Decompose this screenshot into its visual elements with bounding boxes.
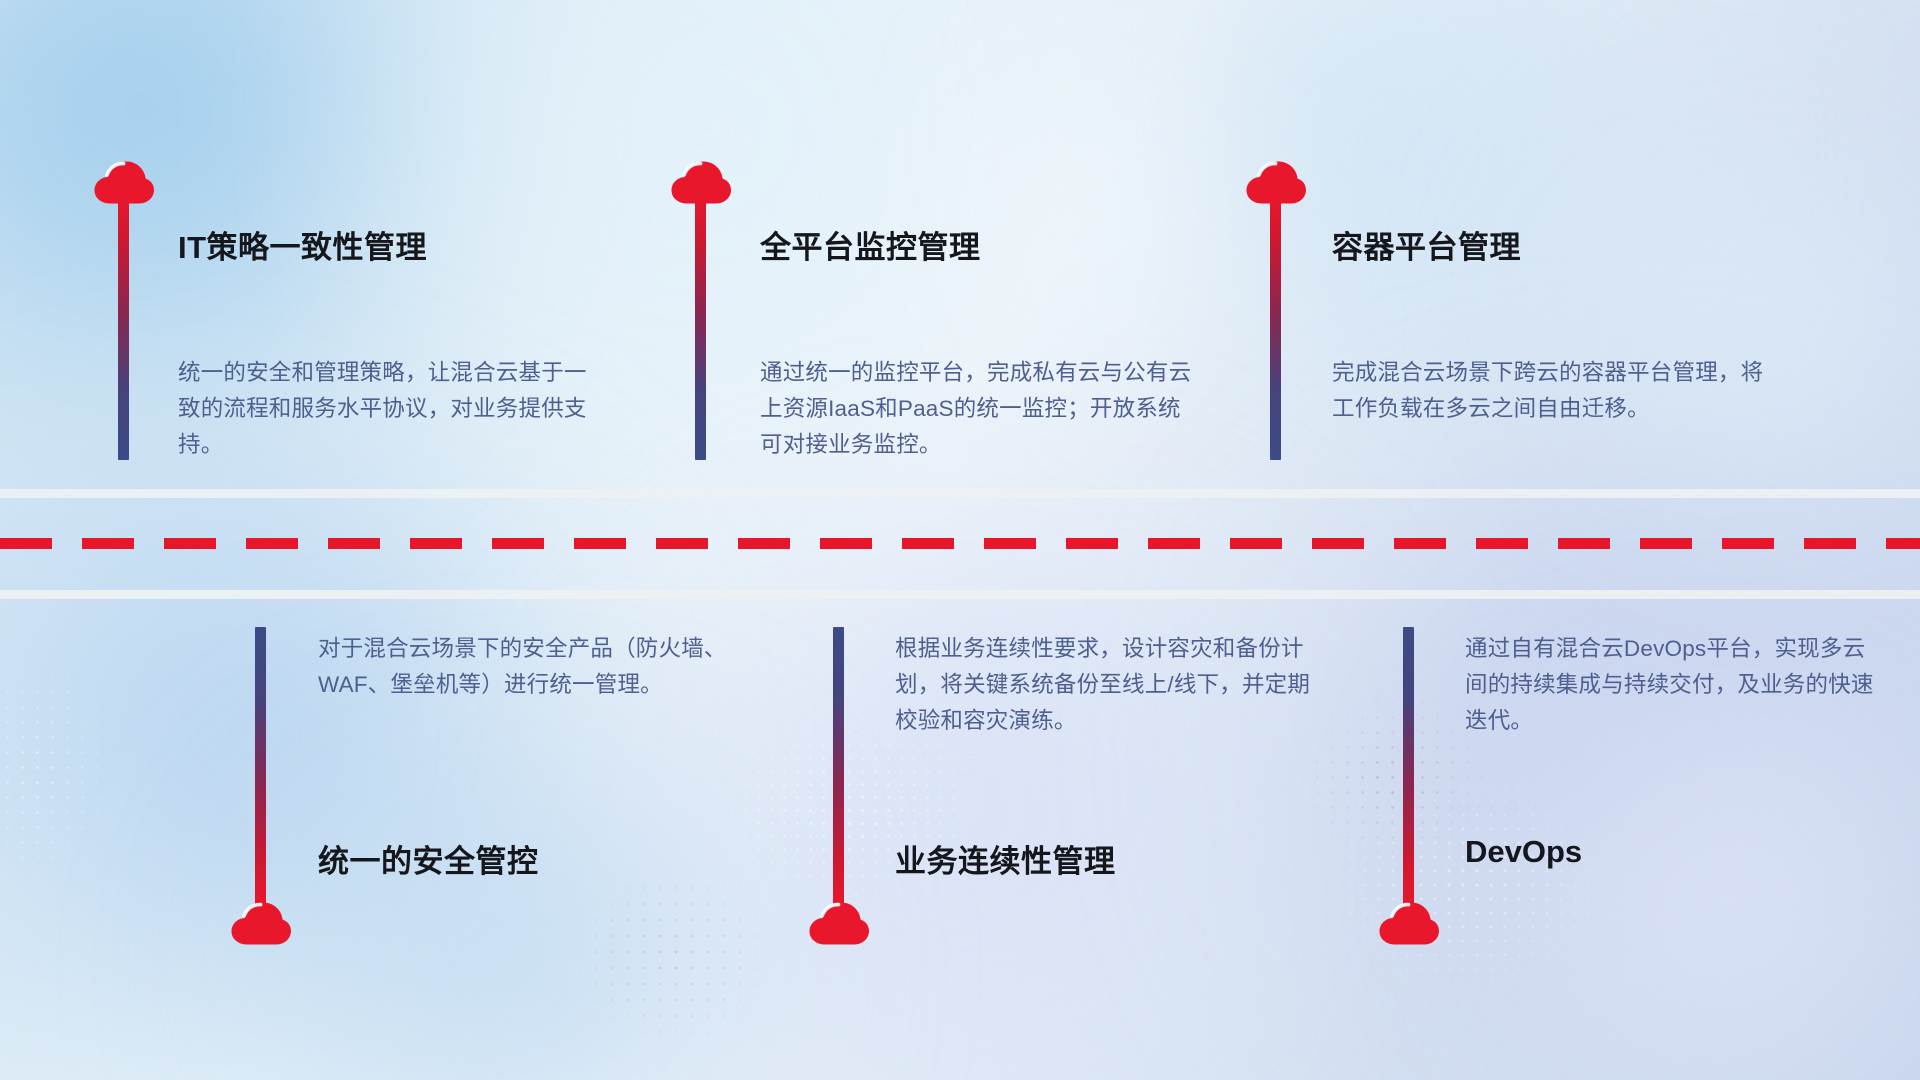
cloud-icon (1378, 901, 1440, 945)
dashed-separator (0, 489, 1920, 599)
feature-title: 容器平台管理 (1332, 222, 1521, 267)
connector-stem (1403, 627, 1414, 907)
cloud-icon (808, 901, 870, 945)
connector-stem (695, 196, 706, 460)
connector-stem (118, 196, 129, 460)
feature-title: 全平台监控管理 (760, 222, 981, 267)
feature-description: 完成混合云场景下跨云的容器平台管理，将工作负载在多云之间自由迁移。 (1332, 355, 1764, 427)
feature-description: 统一的安全和管理策略，让混合云基于一致的流程和服务水平协议，对业务提供支持。 (178, 355, 608, 463)
feature-description: 对于混合云场景下的安全产品（防火墙、WAF、堡垒机等）进行统一管理。 (318, 631, 748, 703)
feature-title: 业务连续性管理 (895, 836, 1116, 881)
feature-title: 统一的安全管控 (318, 836, 539, 881)
connector-stem (1270, 196, 1281, 460)
divider-dashed-line (0, 538, 1920, 549)
feature-description: 根据业务连续性要求，设计容灾和备份计划，将关键系统备份至线上/线下，并定期校验和… (895, 631, 1320, 739)
feature-title: DevOps (1465, 834, 1582, 870)
connector-stem (833, 627, 844, 907)
feature-title: IT策略一致性管理 (178, 222, 427, 267)
bottom-feature-row: 对于混合云场景下的安全产品（防火墙、WAF、堡垒机等）进行统一管理。 统一的安全… (0, 599, 1920, 1080)
cloud-icon (230, 901, 292, 945)
divider-rule-top (0, 489, 1920, 498)
connector-stem (255, 627, 266, 907)
divider-rule-bottom (0, 590, 1920, 599)
feature-description: 通过统一的监控平台，完成私有云与公有云上资源IaaS和PaaS的统一监控；开放系… (760, 355, 1195, 463)
top-feature-row: IT策略一致性管理 统一的安全和管理策略，让混合云基于一致的流程和服务水平协议，… (0, 0, 1920, 489)
feature-description: 通过自有混合云DevOps平台，实现多云间的持续集成与持续交付，及业务的快速迭代… (1465, 631, 1880, 739)
